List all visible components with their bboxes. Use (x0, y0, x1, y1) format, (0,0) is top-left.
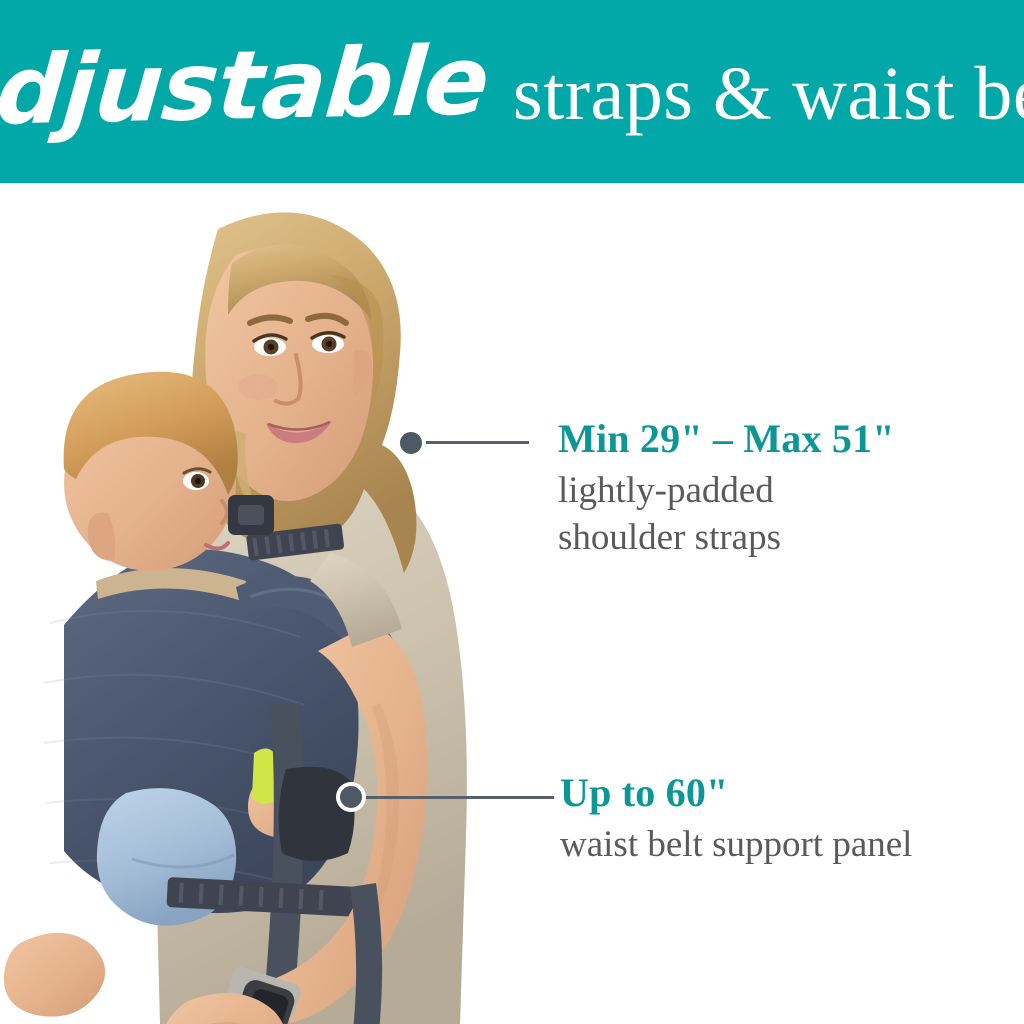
waist-belt-support-panel (279, 767, 355, 861)
callout-heading-shoulder-straps: Min 29" – Max 51" (558, 418, 895, 460)
buckle-slot (238, 505, 264, 525)
product-photo (0, 183, 560, 1024)
callout-text-shoulder-straps: Min 29" – Max 51" lightly-padded shoulde… (558, 418, 895, 560)
cheek-blush (238, 374, 278, 400)
supporting-hand (4, 933, 105, 1017)
callout-marker-shoulder-straps[interactable] (396, 428, 426, 458)
callout-sub-line1-waist-belt: waist belt support panel (560, 822, 912, 867)
callout-text-waist-belt: Up to 60" waist belt support panel (560, 772, 912, 867)
callout-sub-line1-shoulder-straps: lightly-padded (558, 468, 895, 513)
right-eye-pupil (326, 341, 332, 347)
mother-and-baby-illustration (0, 183, 560, 1024)
lime-accent-tab (252, 748, 276, 804)
callout-heading-waist-belt: Up to 60" (560, 772, 912, 814)
header-script-word: adjustable (0, 34, 492, 141)
header-rest-text: straps & waist belt (513, 56, 1024, 132)
leader-line-shoulder-straps (425, 441, 529, 444)
leader-line-waist-belt (364, 796, 554, 799)
header-text: adjustable straps & waist belt (0, 40, 1024, 135)
left-eye-pupil (268, 344, 274, 350)
baby-eye-pupil (195, 478, 201, 484)
header-banner: adjustable straps & waist belt (0, 0, 1024, 183)
infographic-page: adjustable straps & waist belt (0, 0, 1024, 1024)
callout-marker-waist-belt[interactable] (336, 782, 366, 812)
callout-sub-line2-shoulder-straps: shoulder straps (558, 515, 895, 560)
